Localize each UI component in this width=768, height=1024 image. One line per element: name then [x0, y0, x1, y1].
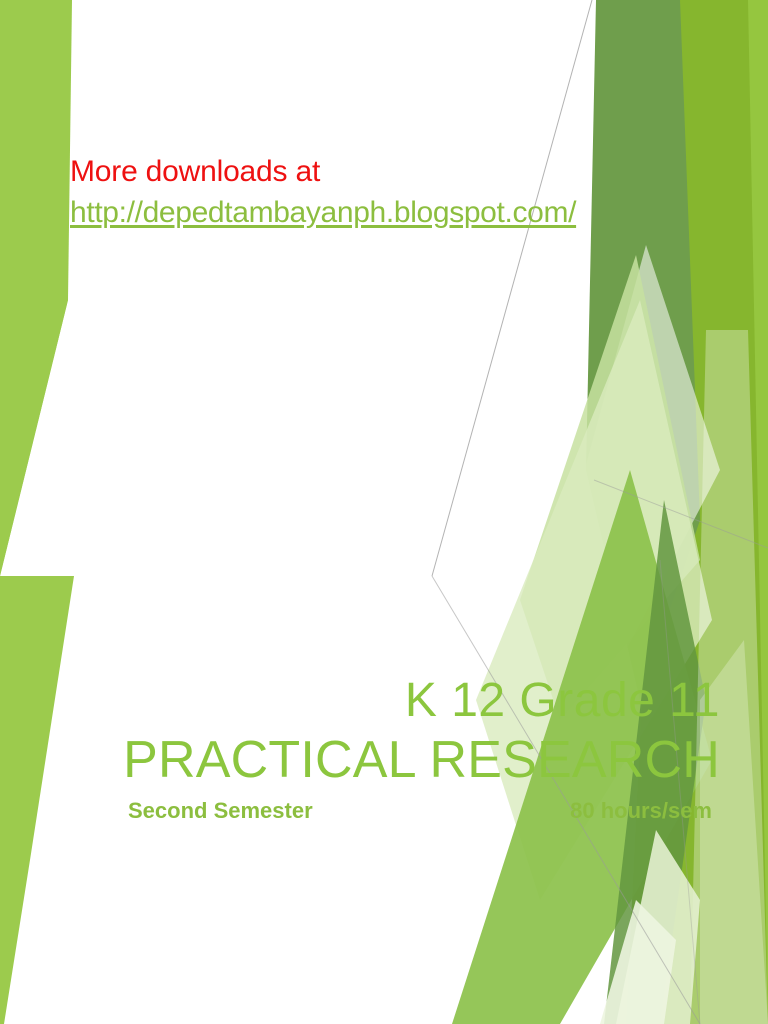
left-top-wedge	[0, 0, 72, 576]
left-top-wedge-lower	[0, 260, 68, 576]
promo-heading: More downloads at	[70, 152, 730, 192]
slide-canvas: More downloads at http://depedtambayanph…	[0, 0, 768, 1024]
title-line-two: PRACTICAL RESEARCH	[48, 730, 720, 790]
pale-triangle-left	[520, 255, 700, 720]
hairline-vertical-right	[660, 560, 700, 1024]
left-bottom-wedge	[0, 576, 74, 1024]
right-dark-band	[586, 0, 700, 700]
promo-text-block: More downloads at http://depedtambayanph…	[70, 152, 730, 234]
subtitle-hours: 80 hours/sem	[570, 798, 712, 824]
hairline-cross-diagonal	[594, 480, 768, 548]
pale-sweep-upper	[560, 245, 720, 700]
subtitle-semester: Second Semester	[128, 798, 313, 824]
slide-title-block: K 12 Grade 11 PRACTICAL RESEARCH	[48, 672, 720, 790]
slide-subtitle-block: Second Semester 80 hours/sem	[128, 798, 712, 824]
promo-url-link[interactable]: http://depedtambayanph.blogspot.com/	[70, 192, 576, 234]
pale-fan-bottom	[616, 830, 700, 1024]
hairline-upper-diagonal	[432, 0, 592, 576]
title-line-one: K 12 Grade 11	[48, 672, 720, 730]
pale-fan-bottom-2	[600, 900, 676, 1024]
